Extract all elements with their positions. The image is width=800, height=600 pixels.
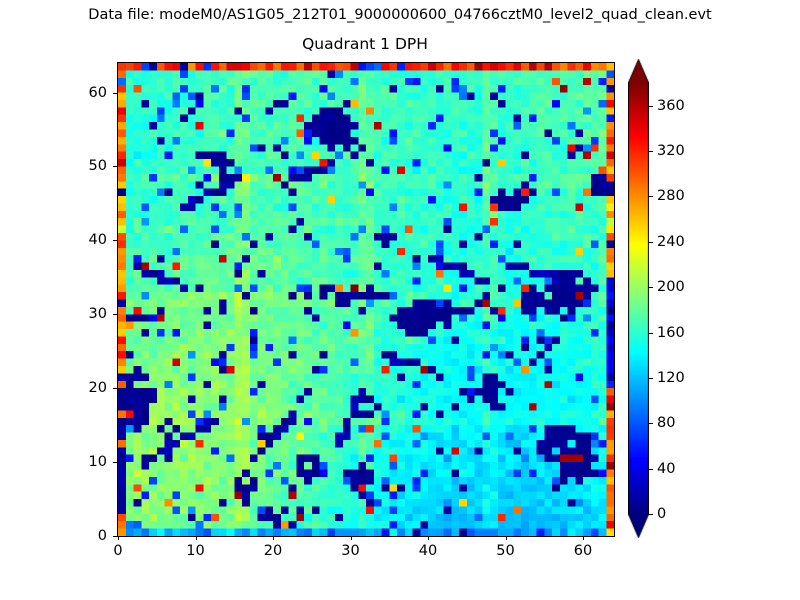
- y-tick-label: 10: [75, 454, 107, 470]
- x-tick-mark: [273, 536, 274, 540]
- colorbar-tick-label: 320: [657, 143, 685, 159]
- colorbar-tick-label: 360: [657, 98, 685, 114]
- dph-heatmap-image[interactable]: [118, 63, 614, 536]
- x-tick-mark: [196, 536, 197, 540]
- heatmap-axes[interactable]: [117, 62, 615, 537]
- y-tick-mark: [113, 388, 117, 389]
- y-tick-mark: [113, 536, 117, 537]
- colorbar-tick-label: 240: [657, 234, 685, 250]
- x-tick-label: 10: [186, 543, 204, 559]
- colorbar-tick-mark: [648, 106, 653, 107]
- page-title: Quadrant 1 DPH: [117, 34, 613, 54]
- colorbar-tick-label: 40: [657, 461, 675, 477]
- colorbar-tick-mark: [648, 423, 653, 424]
- x-tick-mark: [428, 536, 429, 540]
- colorbar-tick-mark: [648, 287, 653, 288]
- y-tick-label: 40: [75, 232, 107, 248]
- x-tick-label: 0: [113, 543, 122, 559]
- x-tick-mark: [351, 536, 352, 540]
- y-tick-mark: [113, 240, 117, 241]
- colorbar-tick-mark: [648, 514, 653, 515]
- matplotlib-figure: Data file: modeM0/AS1G05_212T01_90000006…: [0, 0, 800, 600]
- y-tick-label: 60: [75, 85, 107, 101]
- x-tick-label: 40: [419, 543, 437, 559]
- y-tick-mark: [113, 462, 117, 463]
- y-tick-label: 0: [75, 528, 107, 544]
- data-file-suptitle: Data file: modeM0/AS1G05_212T01_90000006…: [0, 6, 800, 24]
- x-tick-mark: [506, 536, 507, 540]
- x-tick-mark: [583, 536, 584, 540]
- x-tick-label: 20: [264, 543, 282, 559]
- colorbar-tick-mark: [648, 151, 653, 152]
- colorbar-tick-mark: [648, 333, 653, 334]
- colorbar-tick-label: 120: [657, 370, 685, 386]
- colorbar-gradient[interactable]: [628, 59, 649, 538]
- y-tick-label: 50: [75, 158, 107, 174]
- y-tick-label: 30: [75, 306, 107, 322]
- colorbar-tick-label: 160: [657, 325, 685, 341]
- colorbar-tick-label: 0: [657, 506, 666, 522]
- y-tick-mark: [113, 166, 117, 167]
- y-tick-mark: [113, 93, 117, 94]
- colorbar-tick-mark: [648, 242, 653, 243]
- colorbar-tick-mark: [648, 196, 653, 197]
- colorbar-tick-mark: [648, 469, 653, 470]
- x-tick-mark: [118, 536, 119, 540]
- x-tick-label: 50: [496, 543, 514, 559]
- colorbar-tick-label: 200: [657, 279, 685, 295]
- colorbar-axes[interactable]: [628, 59, 649, 538]
- colorbar-tick-label: 80: [657, 415, 675, 431]
- y-tick-label: 20: [75, 380, 107, 396]
- colorbar-tick-label: 280: [657, 188, 685, 204]
- y-tick-mark: [113, 314, 117, 315]
- x-tick-label: 60: [574, 543, 592, 559]
- x-tick-label: 30: [341, 543, 359, 559]
- colorbar-tick-mark: [648, 378, 653, 379]
